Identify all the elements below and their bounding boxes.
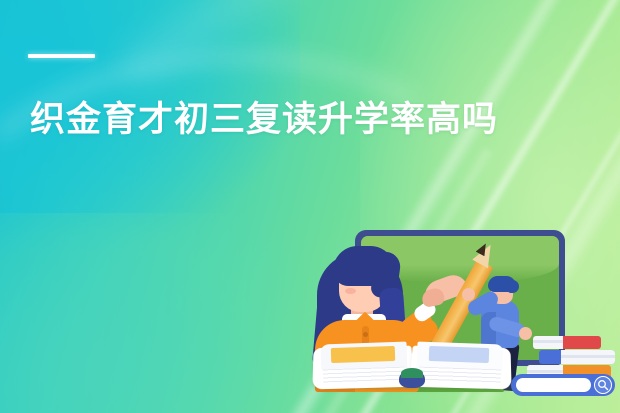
teacher-button-top <box>363 332 368 337</box>
book-blue-edge <box>561 355 615 358</box>
open-book-right-block <box>429 346 489 363</box>
search-icon <box>597 379 609 391</box>
title-accent-bar <box>28 54 95 58</box>
book-orange-edge <box>527 370 563 373</box>
teacher-cheek <box>345 288 356 294</box>
background-streak-6 <box>111 0 448 96</box>
background-glow-bottom-left <box>0 213 330 413</box>
book-red-edge <box>533 340 563 343</box>
open-book-left-lines <box>323 367 405 384</box>
open-book-left-block <box>331 346 395 363</box>
search-input[interactable] <box>516 378 591 392</box>
open-book-right-lines <box>419 367 501 384</box>
education-illustration <box>295 196 620 413</box>
open-book-spine-top <box>401 368 423 378</box>
student-hand-upper <box>462 288 475 301</box>
page-title: 织金育才初三复读升学率高吗 <box>30 98 590 144</box>
student-hand-lower <box>519 327 532 340</box>
banner-card: 织金育才初三复读升学率高吗 <box>0 0 620 413</box>
